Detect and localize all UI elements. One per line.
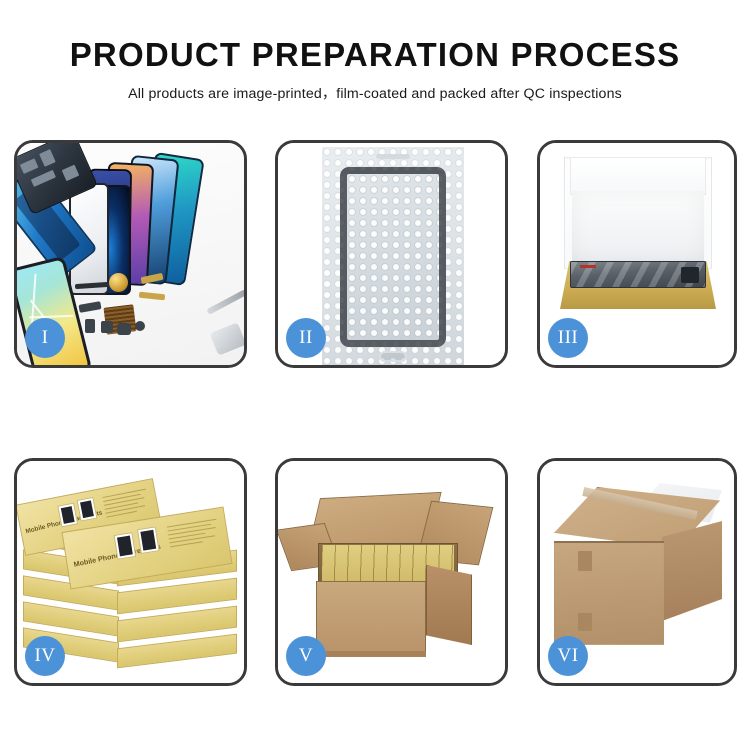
label-sticker bbox=[580, 265, 596, 268]
button-part bbox=[85, 319, 95, 333]
carton-bottom-edge bbox=[316, 651, 426, 657]
box-spec-lines-a bbox=[102, 489, 150, 521]
home-button bbox=[379, 351, 407, 362]
box-thumb-b2 bbox=[137, 526, 160, 554]
box-back-panel bbox=[570, 157, 706, 195]
camera-module-part bbox=[78, 301, 101, 313]
connector-end bbox=[681, 267, 699, 283]
step-badge-1: I bbox=[25, 318, 65, 358]
process-step-grid: I II III bbox=[14, 140, 737, 686]
process-step-6[interactable]: VI bbox=[537, 458, 737, 686]
page-subtitle: All products are image-printed，film-coat… bbox=[0, 83, 750, 103]
bubble-wrap-sheet bbox=[322, 147, 464, 366]
screw-part bbox=[135, 321, 145, 331]
box-thumb-a2 bbox=[77, 497, 98, 522]
page-header: PRODUCT PREPARATION PROCESS All products… bbox=[0, 0, 750, 103]
vibration-motor-part bbox=[109, 273, 128, 292]
step-badge-4: IV bbox=[25, 636, 65, 676]
carton-side-face bbox=[426, 565, 472, 645]
wrapped-phone-screen bbox=[340, 167, 446, 347]
sealed-carton-side bbox=[662, 521, 722, 621]
carton-hand-hole-lower bbox=[578, 613, 592, 631]
step-badge-3: III bbox=[548, 318, 588, 358]
process-step-5[interactable]: V bbox=[275, 458, 508, 686]
sim-tray-part bbox=[117, 323, 131, 335]
white-foam-padding bbox=[572, 191, 704, 269]
packed-screen-in-box bbox=[570, 261, 706, 288]
carton-top-seam bbox=[554, 541, 664, 543]
process-step-2[interactable]: II bbox=[275, 140, 508, 368]
box-thumb-a1 bbox=[57, 503, 78, 528]
page-title: PRODUCT PREPARATION PROCESS bbox=[0, 36, 750, 74]
process-step-3[interactable]: III bbox=[537, 140, 737, 368]
sealed-carton-front bbox=[554, 541, 664, 645]
flex-cable-part-2 bbox=[139, 292, 165, 301]
box-spec-lines-b bbox=[167, 519, 220, 551]
step-badge-6: VI bbox=[548, 636, 588, 676]
process-step-1[interactable]: I bbox=[14, 140, 247, 368]
process-step-4[interactable]: Mobile Phone Spare Parts Mobile Phone Sp… bbox=[14, 458, 247, 686]
screwdriver-tool bbox=[206, 289, 247, 315]
earpiece-slot bbox=[376, 154, 410, 159]
carton-front-face bbox=[316, 581, 426, 655]
pry-tool bbox=[210, 322, 247, 355]
speaker-part bbox=[101, 321, 113, 333]
box-thumb-b1 bbox=[114, 532, 137, 560]
carton-hand-hole-upper bbox=[578, 551, 592, 571]
step-badge-5: V bbox=[286, 636, 326, 676]
step-badge-2: II bbox=[286, 318, 326, 358]
